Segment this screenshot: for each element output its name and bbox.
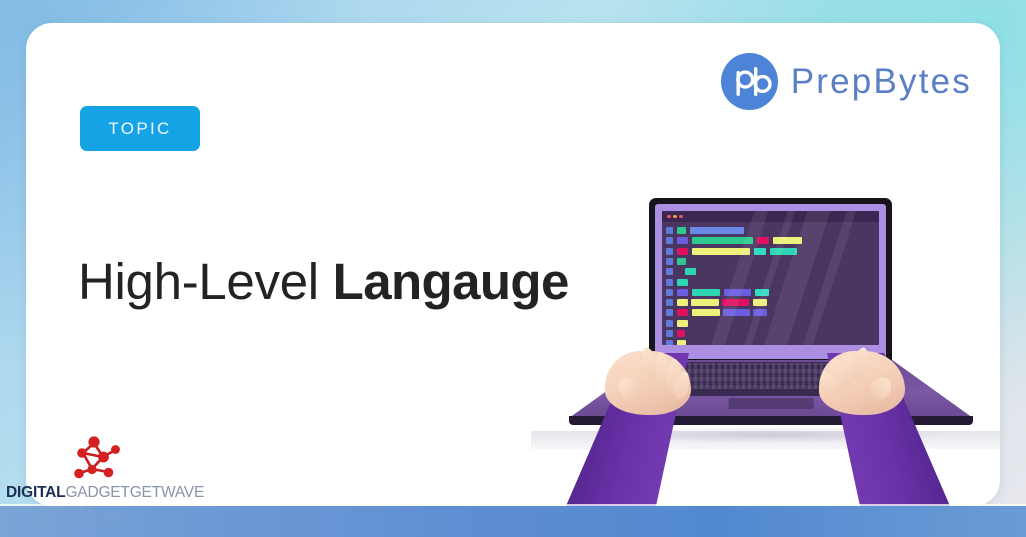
code-token — [723, 309, 750, 316]
laptop-bezel — [655, 204, 886, 359]
code-token — [692, 309, 720, 316]
code-token — [677, 309, 688, 316]
code-line — [662, 227, 879, 234]
code-token — [685, 268, 696, 275]
code-token — [755, 289, 769, 296]
code-token — [677, 258, 686, 265]
line-number-marker — [666, 309, 673, 316]
line-number-marker — [666, 279, 673, 286]
code-token — [753, 299, 767, 306]
code-token — [690, 227, 744, 234]
watermark-subtitle-top: DIGITAL — [32, 504, 198, 514]
laptop-screen — [662, 211, 879, 345]
line-number-marker — [666, 268, 673, 275]
left-hand — [605, 351, 691, 415]
code-token — [677, 237, 688, 244]
laptop-illustration — [531, 23, 1000, 506]
code-line — [662, 258, 879, 265]
editor-code-area — [662, 222, 879, 345]
code-line — [662, 289, 879, 296]
code-token — [753, 309, 767, 316]
trackpad[interactable] — [729, 398, 814, 409]
code-token — [773, 237, 802, 244]
editor-title-bar — [662, 211, 879, 222]
molecule-icon — [68, 431, 124, 483]
line-number-marker — [666, 340, 673, 345]
line-number-marker — [666, 237, 673, 244]
code-line — [662, 268, 879, 275]
code-line — [662, 299, 879, 306]
code-token — [677, 330, 685, 337]
line-number-marker — [666, 320, 673, 327]
laptop-lid — [649, 198, 892, 364]
watermark-title: DIGITALGADGETGETWAVE — [6, 485, 198, 501]
watermark-subtitle-main: DEFINITIONS — [32, 514, 123, 524]
watermark-title-rest: GADGETGETWAVE — [65, 484, 204, 501]
line-number-marker — [666, 227, 673, 234]
banner-canvas: TOPIC High-Level Langauge PrepBytes — [0, 0, 1026, 537]
code-token — [677, 289, 688, 296]
watermark-title-bold: DIGITAL — [6, 484, 65, 501]
code-token — [722, 299, 749, 306]
page-title-light-part: High-Level — [78, 253, 333, 310]
code-token — [692, 237, 753, 244]
code-token — [677, 279, 688, 286]
code-token — [724, 289, 751, 296]
watermark-subtitle: DIGITAL DEFINITIONS — [6, 504, 198, 525]
code-line — [662, 320, 879, 327]
window-dot-3[interactable] — [679, 215, 683, 219]
right-hand — [819, 351, 905, 415]
watermark: DIGITALGADGETGETWAVE DIGITAL DEFINITIONS — [6, 485, 198, 525]
line-number-marker — [666, 299, 673, 306]
code-line — [662, 309, 879, 316]
code-token — [677, 320, 688, 327]
page-title: High-Level Langauge — [78, 255, 569, 309]
code-line — [662, 340, 879, 345]
code-line — [662, 278, 879, 285]
code-line — [662, 330, 879, 337]
code-token — [770, 248, 797, 255]
code-token — [677, 227, 686, 234]
code-line — [662, 248, 879, 255]
line-number-marker — [666, 330, 673, 337]
code-token — [691, 299, 719, 306]
code-token — [677, 248, 688, 255]
code-token — [754, 248, 766, 255]
line-number-marker — [666, 258, 673, 265]
window-dot-1[interactable] — [667, 215, 671, 219]
code-token — [692, 289, 720, 296]
code-token — [757, 237, 769, 244]
content-card: TOPIC High-Level Langauge PrepBytes — [26, 23, 1000, 506]
code-line — [662, 237, 879, 244]
code-token — [677, 299, 688, 306]
line-number-marker — [666, 248, 673, 255]
window-dot-2[interactable] — [673, 215, 677, 219]
topic-badge[interactable]: TOPIC — [80, 106, 200, 151]
line-number-marker — [666, 289, 673, 296]
code-token — [692, 248, 750, 255]
code-token — [677, 340, 686, 345]
